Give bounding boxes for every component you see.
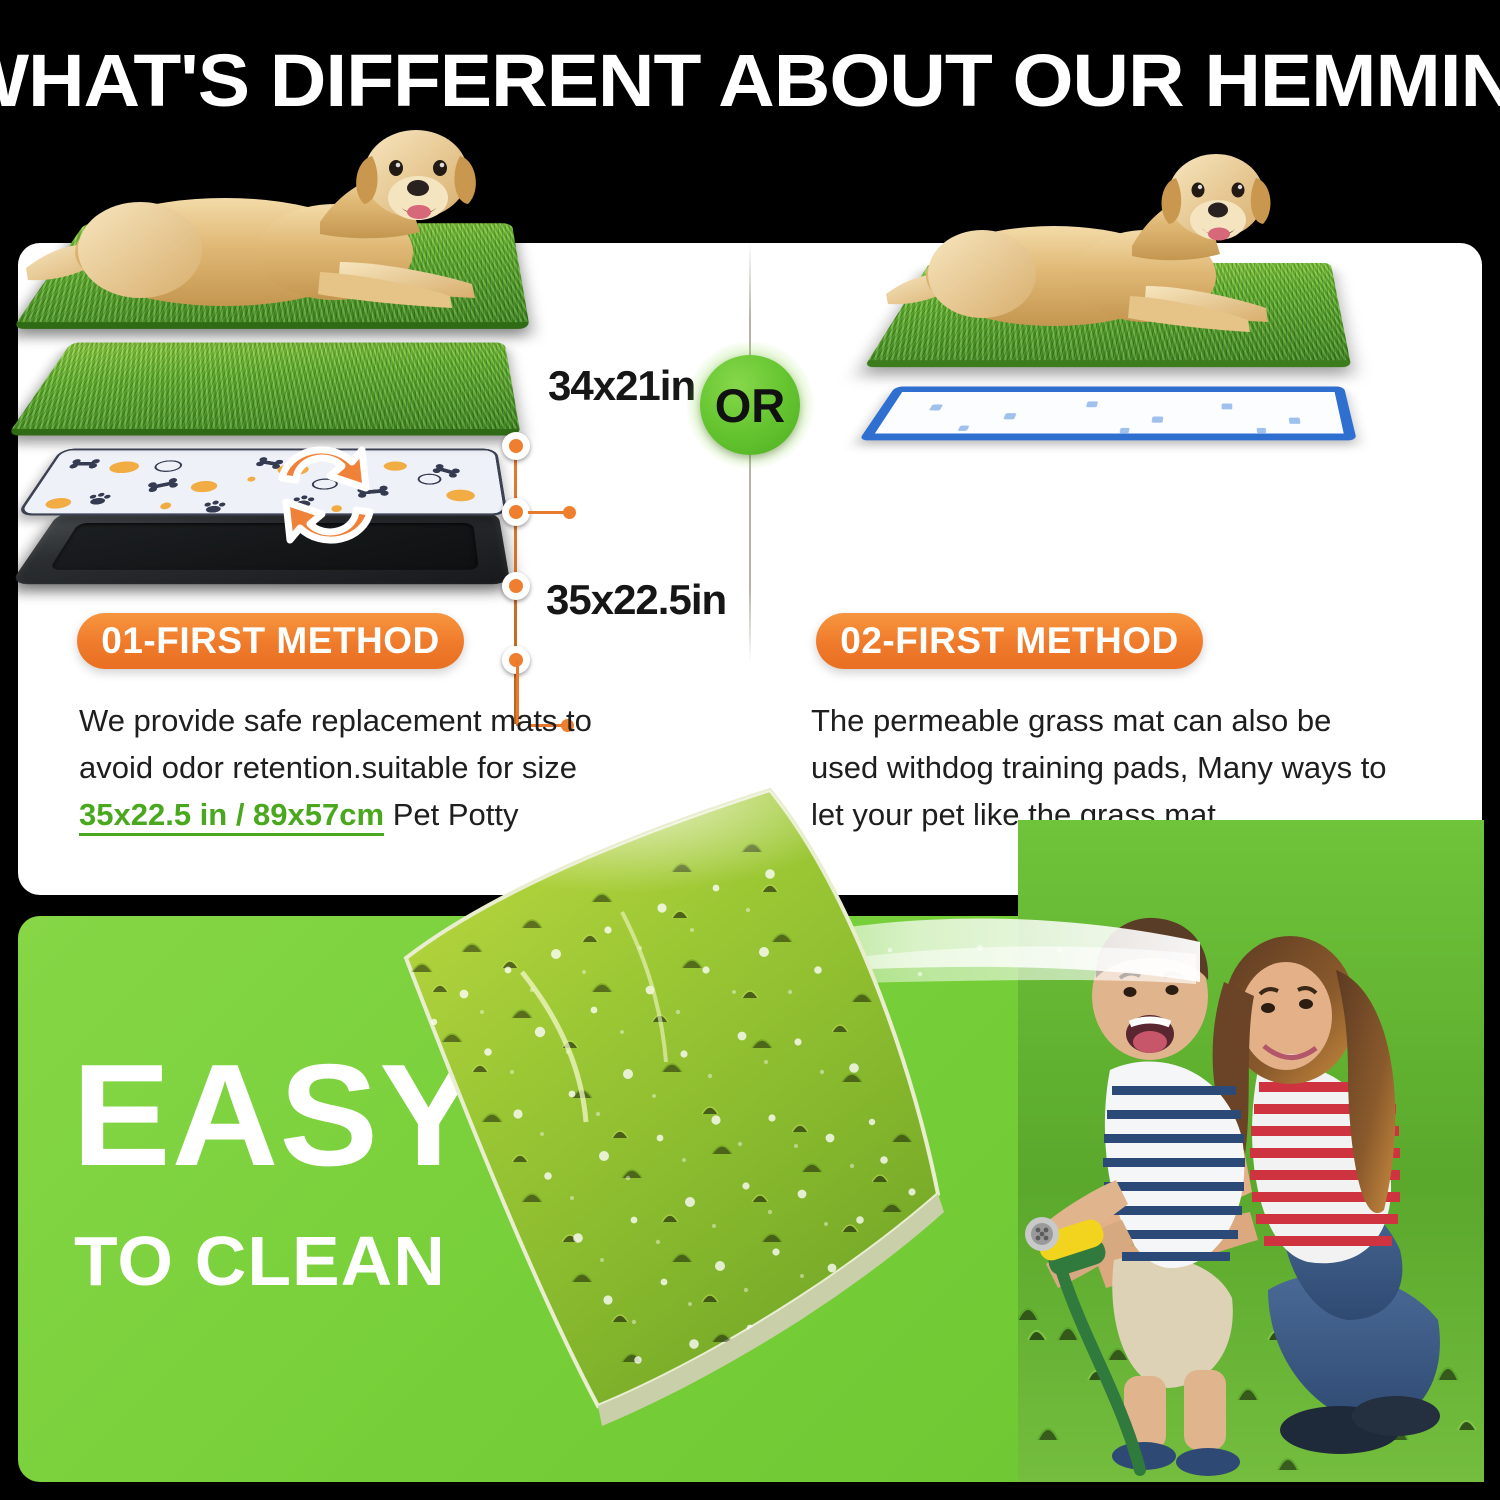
connector-dot-top-mat: [502, 432, 530, 460]
badge-first-method: 01-FIRST METHOD: [77, 613, 464, 669]
right-desc-line1: The permeable grass mat can also be: [811, 703, 1331, 738]
page-title: WHAT'S DIFFERENT ABOUT OUR HEMMING GRASS…: [0, 38, 1500, 123]
left-layer-stack: [30, 126, 590, 606]
wet-grass-mat-image: [372, 742, 972, 1442]
swap-arrows-icon: [266, 432, 386, 558]
right-layer-stack: [860, 150, 1420, 480]
left-desc-highlight: 35x22.5 in / 89x57cm: [79, 797, 384, 836]
layer-training-pad: [859, 386, 1357, 440]
dimension-label-top: 34x21in: [548, 362, 695, 410]
golden-retriever-dog-image: [20, 122, 530, 332]
layer-black-tray: [10, 512, 511, 584]
left-desc-line1: We provide safe replacement mats to: [79, 703, 592, 738]
dimension-label-bottom: 35x22.5in: [546, 576, 726, 624]
leader-tip-top: [563, 506, 576, 519]
tray-inner-lip: [49, 523, 479, 570]
training-pad-pattern-icon: [869, 392, 1345, 440]
connector-dot-second-mat: [502, 498, 530, 526]
golden-retriever-dog-image-right: [884, 144, 1314, 354]
connector-dot-pad: [502, 572, 530, 600]
or-divider-badge: OR: [700, 355, 800, 455]
family-hose-photo: [1018, 820, 1484, 1482]
pad-pattern-icon: [18, 450, 505, 515]
badge-second-method: 02-FIRST METHOD: [816, 613, 1203, 669]
infographic-page: WHAT'S DIFFERENT ABOUT OUR HEMMING GRASS…: [0, 0, 1500, 1500]
or-badge-label: OR: [700, 355, 800, 455]
layer-patterned-pad: [16, 449, 508, 516]
layer-replacement-grass-mat: [7, 342, 520, 435]
